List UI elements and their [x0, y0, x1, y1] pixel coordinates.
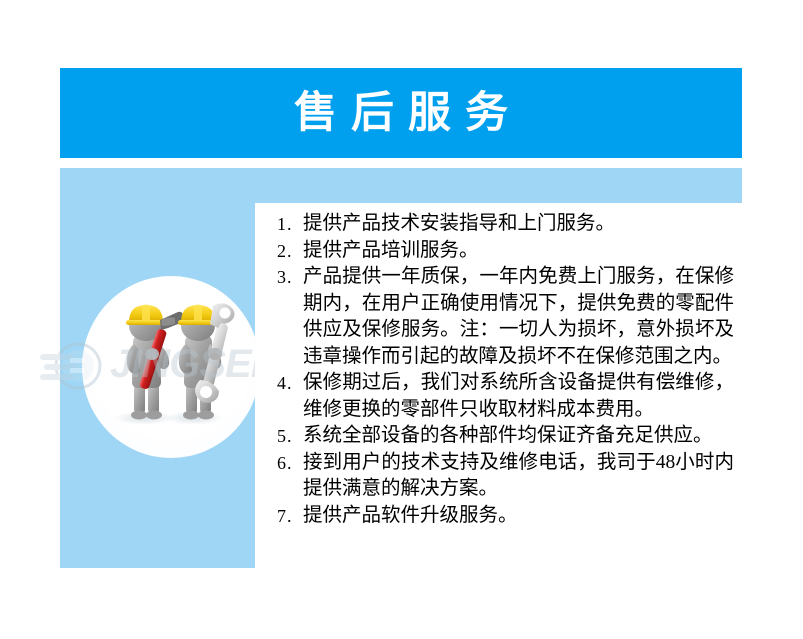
list-item: 1.提供产品技术安装指导和上门服务。: [277, 211, 734, 238]
list-item-number: 7.: [277, 503, 303, 530]
header-banner: 售后服务: [60, 68, 742, 158]
list-item-text: 提供产品培训服务。: [303, 238, 734, 265]
list-item: 5.系统全部设备的各种部件均保证齐备充足供应。: [277, 423, 734, 450]
page-title: 售后服务: [280, 92, 522, 135]
list-item: 4.保修期过后，我们对系统所含设备提供有偿维修，维修更换的零部件只收取材料成本费…: [277, 370, 734, 423]
list-item-number: 6.: [277, 450, 303, 477]
service-list-card: 1.提供产品技术安装指导和上门服务。2.提供产品培训服务。3.产品提供一年质保，…: [255, 203, 742, 568]
list-item-text: 提供产品技术安装指导和上门服务。: [303, 211, 734, 238]
service-page: 售后服务: [0, 0, 803, 639]
list-item-text: 产品提供一年质保，一年内免费上门服务，在保修期内，在用户正确使用情况下，提供免费…: [303, 264, 734, 370]
list-item: 3.产品提供一年质保，一年内免费上门服务，在保修期内，在用户正确使用情况下，提供…: [277, 264, 734, 370]
illustration: [82, 276, 260, 458]
list-item: 2.提供产品培训服务。: [277, 238, 734, 265]
list-item-text: 保修期过后，我们对系统所含设备提供有偿维修，维修更换的零部件只收取材料成本费用。: [303, 370, 734, 423]
list-item-text: 系统全部设备的各种部件均保证齐备充足供应。: [303, 423, 734, 450]
list-item-text: 提供产品软件升级服务。: [303, 503, 734, 530]
list-item-text: 接到用户的技术支持及维修电话，我司于48小时内提供满意的解决方案。: [303, 450, 734, 503]
list-item-number: 3.: [277, 264, 303, 291]
list-item: 7.提供产品软件升级服务。: [277, 503, 734, 530]
worker-left: [126, 305, 183, 420]
list-item-number: 4.: [277, 370, 303, 397]
list-item-number: 1.: [277, 211, 303, 238]
list-item-number: 5.: [277, 423, 303, 450]
worker-right: [178, 303, 235, 419]
service-list: 1.提供产品技术安装指导和上门服务。2.提供产品培训服务。3.产品提供一年质保，…: [277, 211, 734, 529]
two-workers-icon: [82, 276, 260, 458]
list-item-number: 2.: [277, 238, 303, 265]
list-item: 6.接到用户的技术支持及维修电话，我司于48小时内提供满意的解决方案。: [277, 450, 734, 503]
